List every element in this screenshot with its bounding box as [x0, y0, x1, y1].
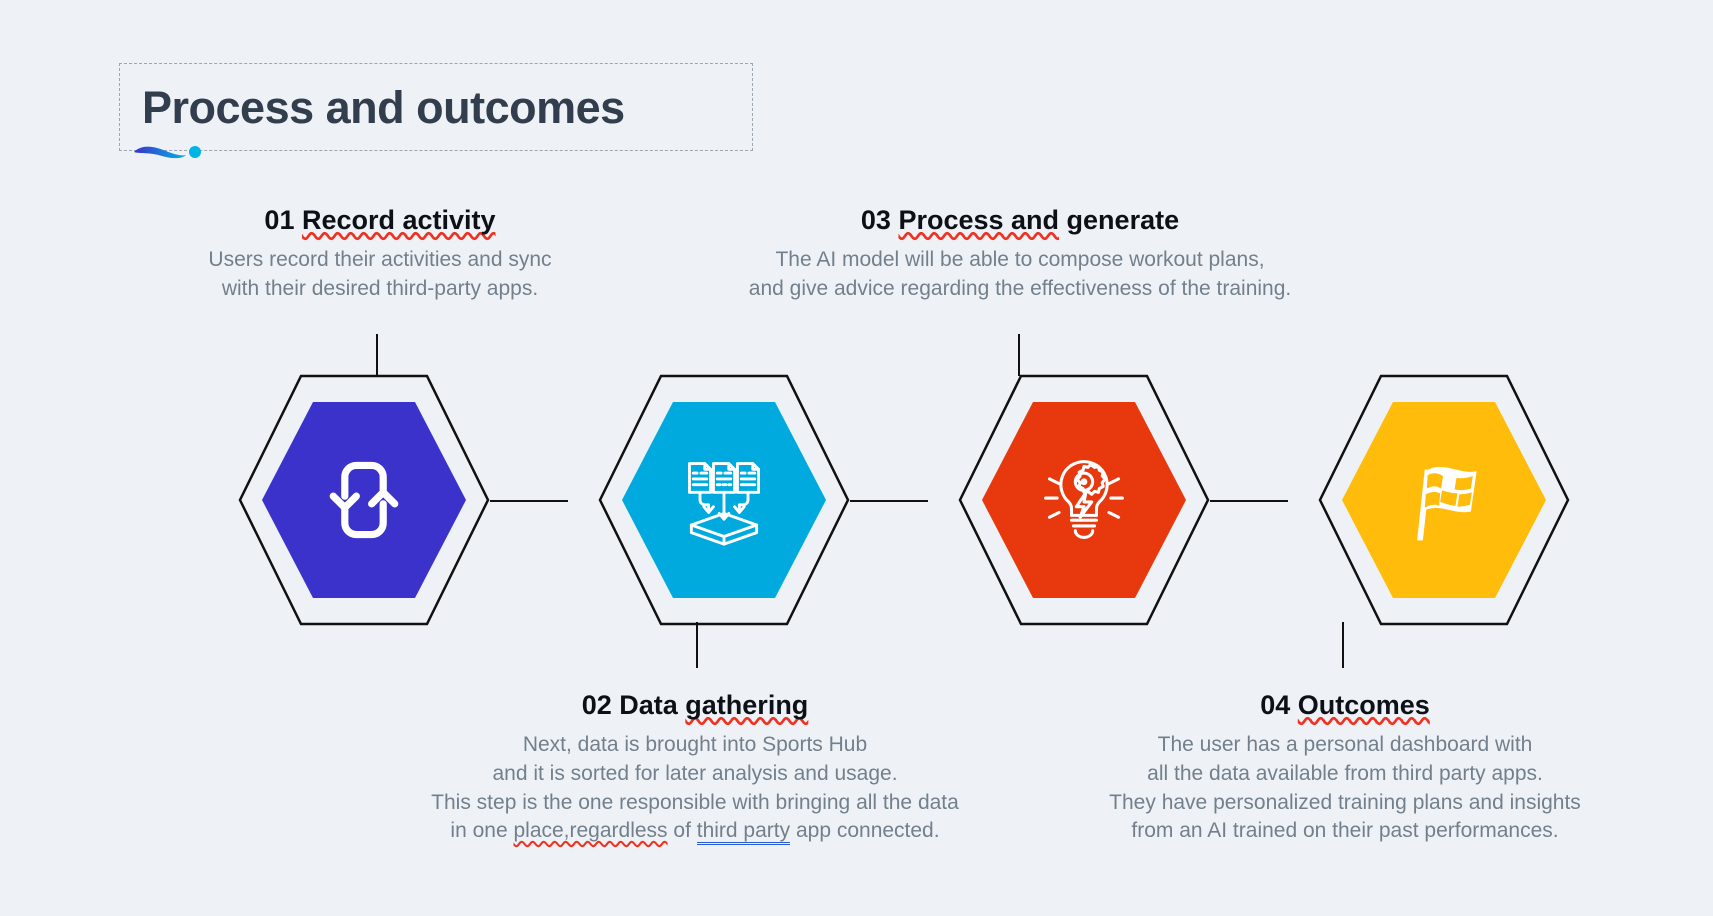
- step-heading-02: 02 Data gathering: [582, 690, 809, 721]
- step-body-04: The user has a personal dashboard with a…: [1045, 731, 1645, 846]
- step-text-01: 01 Record activity Users record their ac…: [90, 205, 670, 304]
- sync-arrows-icon: [316, 452, 412, 548]
- step-body-line: Next, data is brought into Sports Hub: [523, 733, 867, 756]
- lightbulb-gear-bolt-icon: [1036, 452, 1132, 548]
- hex-connector-1-2: [490, 500, 568, 502]
- hexagon-step-02[interactable]: [598, 374, 850, 626]
- documents-to-platform-icon: [676, 452, 772, 548]
- body-fragment: in one: [450, 819, 513, 842]
- step-number-02: 02: [582, 690, 612, 720]
- stem-step-04: [1342, 622, 1344, 668]
- stem-step-03: [1018, 334, 1020, 376]
- hexagon-step-03[interactable]: [958, 374, 1210, 626]
- step-number-04: 04: [1260, 690, 1290, 720]
- checkered-flag-icon: [1396, 452, 1492, 548]
- grammar-suggestion[interactable]: third party: [697, 819, 790, 845]
- step-text-03: 03 Process and generate The AI model wil…: [690, 205, 1350, 304]
- step-title-04: Outcomes: [1298, 690, 1430, 720]
- step-title-01: Record activity: [302, 205, 496, 235]
- step-text-04: 04 Outcomes The user has a personal dash…: [1045, 690, 1645, 846]
- step-body-02: Next, data is brought into Sports Hub an…: [370, 731, 1020, 846]
- misspelled-word: place,regardless: [513, 819, 667, 842]
- step-body-line: from an AI trained on their past perform…: [1131, 819, 1558, 842]
- decorative-swoosh: [132, 143, 202, 161]
- step-body-03: The AI model will be able to compose wor…: [690, 246, 1350, 304]
- step-body-line: with their desired third-party apps.: [222, 277, 538, 300]
- step-heading-03: 03 Process and generate: [861, 205, 1179, 236]
- page-title-box: Process and outcomes: [119, 63, 753, 151]
- step-title-02-b: gathering: [685, 690, 808, 720]
- page-title: Process and outcomes: [142, 85, 625, 130]
- hex-connector-3-4: [1210, 500, 1288, 502]
- step-number-03: 03: [861, 205, 891, 235]
- step-body-line: The AI model will be able to compose wor…: [775, 248, 1264, 271]
- hexagon-row: [0, 374, 1713, 626]
- step-body-line: and give advice regarding the effectiven…: [749, 277, 1291, 300]
- stem-step-02: [696, 622, 698, 668]
- step-body-line: in one place,regardless of third party a…: [450, 819, 939, 845]
- step-body-line: They have personalized training plans an…: [1109, 791, 1581, 814]
- step-text-02: 02 Data gathering Next, data is brought …: [370, 690, 1020, 846]
- step-body-01: Users record their activities and sync w…: [90, 246, 670, 304]
- swoosh-dot: [189, 146, 201, 158]
- step-title-02-a: Data: [619, 690, 678, 720]
- hexagon-step-01[interactable]: [238, 374, 490, 626]
- step-number-01: 01: [264, 205, 294, 235]
- hex-connector-2-3: [850, 500, 928, 502]
- body-fragment: of: [668, 819, 697, 842]
- hexagon-step-04[interactable]: [1318, 374, 1570, 626]
- stem-step-01: [376, 334, 378, 376]
- step-body-line: and it is sorted for later analysis and …: [492, 762, 897, 785]
- body-fragment: app connected.: [790, 819, 939, 842]
- step-heading-01: 01 Record activity: [264, 205, 495, 236]
- step-heading-04: 04 Outcomes: [1260, 690, 1430, 721]
- step-body-line: all the data available from third party …: [1147, 762, 1543, 785]
- step-title-03-b: generate: [1067, 205, 1180, 235]
- step-body-line: This step is the one responsible with br…: [431, 791, 959, 814]
- step-title-03-a: Process and: [898, 205, 1059, 235]
- step-body-line: Users record their activities and sync: [208, 248, 551, 271]
- step-body-line: The user has a personal dashboard with: [1158, 733, 1533, 756]
